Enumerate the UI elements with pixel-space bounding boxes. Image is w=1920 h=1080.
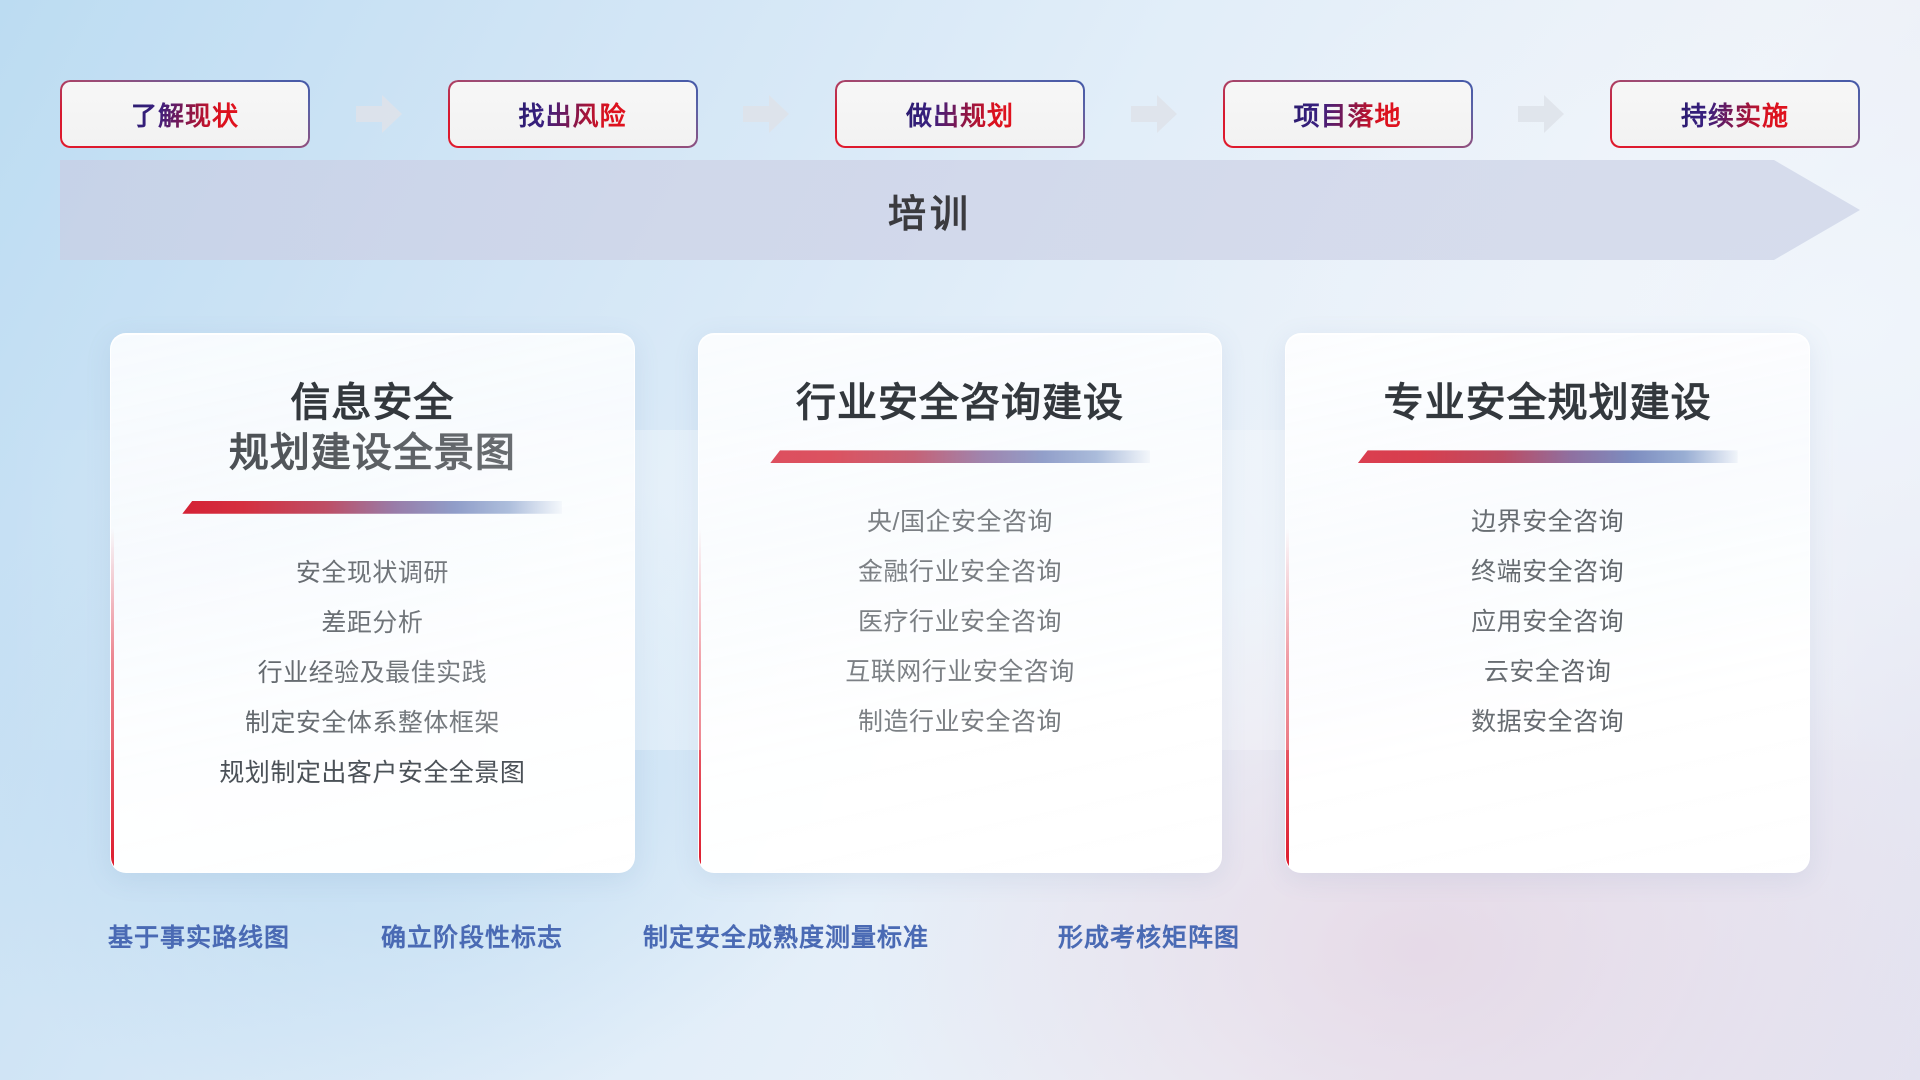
- list-item: 终端安全咨询: [1471, 547, 1624, 597]
- capability-card-group: 信息安全 规划建设全景图 安全现状调研 差距分析 行业经验及最佳实践 制定安全体…: [110, 333, 1810, 893]
- footnote-group: 基于事实路线图 确立阶段性标志 制定安全成熟度测量标准 形成考核矩阵图: [0, 918, 1920, 968]
- list-item: 制定安全体系整体框架: [245, 698, 500, 748]
- footnote-label: 制定安全成熟度测量标准: [643, 918, 929, 954]
- footnote-label: 确立阶段性标志: [381, 918, 563, 954]
- list-item: 央/国企安全咨询: [867, 497, 1053, 547]
- list-item: 边界安全咨询: [1471, 497, 1624, 547]
- card-title: 信息安全 规划建设全景图: [229, 378, 516, 479]
- list-item: 安全现状调研: [296, 548, 449, 598]
- list-item: 金融行业安全咨询: [858, 547, 1062, 597]
- capability-card[interactable]: 行业安全咨询建设 央/国企安全咨询 金融行业安全咨询 医疗行业安全咨询 互联网行…: [698, 333, 1223, 873]
- capability-card[interactable]: 专业安全规划建设 边界安全咨询 终端安全咨询 应用安全咨询 云安全咨询 数据安全…: [1285, 333, 1810, 873]
- step-item-3[interactable]: 做出规划: [835, 80, 1085, 148]
- footnote-label: 形成考核矩阵图: [1058, 918, 1240, 954]
- list-item: 制造行业安全咨询: [858, 697, 1062, 747]
- list-item: 规划制定出客户安全全景图: [219, 748, 525, 798]
- card-title: 行业安全咨询建设: [796, 378, 1124, 428]
- list-item: 云安全咨询: [1484, 647, 1612, 697]
- training-banner-label: 培训: [60, 160, 1860, 260]
- card-divider: [1358, 450, 1738, 463]
- list-item: 应用安全咨询: [1471, 597, 1624, 647]
- list-item: 差距分析: [321, 598, 423, 648]
- training-banner: 培训: [60, 160, 1860, 260]
- step-label: 了解现状: [131, 96, 239, 133]
- list-item: 行业经验及最佳实践: [258, 648, 488, 698]
- card-divider: [770, 450, 1150, 463]
- step-label: 持续实施: [1681, 96, 1789, 133]
- list-item: 互联网行业安全咨询: [845, 647, 1075, 697]
- step-label: 项目落地: [1293, 96, 1401, 133]
- step-item-4[interactable]: 项目落地: [1223, 80, 1473, 148]
- list-item: 医疗行业安全咨询: [858, 597, 1062, 647]
- footnote-label: 基于事实路线图: [108, 918, 290, 954]
- list-item: 数据安全咨询: [1471, 697, 1624, 747]
- card-title: 专业安全规划建设: [1384, 378, 1712, 428]
- card-item-list: 央/国企安全咨询 金融行业安全咨询 医疗行业安全咨询 互联网行业安全咨询 制造行…: [699, 497, 1222, 747]
- process-step-flow: 了解现状 找出风险 做出规划 项目落地: [60, 78, 1860, 150]
- step-label: 做出规划: [906, 96, 1014, 133]
- slide-canvas: 了解现状 找出风险 做出规划 项目落地: [0, 0, 1920, 1080]
- card-item-list: 边界安全咨询 终端安全咨询 应用安全咨询 云安全咨询 数据安全咨询: [1286, 497, 1809, 747]
- step-label: 找出风险: [518, 96, 626, 133]
- step-item-2[interactable]: 找出风险: [448, 80, 698, 148]
- step-item-1[interactable]: 了解现状: [60, 80, 310, 148]
- step-item-5[interactable]: 持续实施: [1610, 80, 1860, 148]
- card-item-list: 安全现状调研 差距分析 行业经验及最佳实践 制定安全体系整体框架 规划制定出客户…: [111, 548, 634, 798]
- capability-card[interactable]: 信息安全 规划建设全景图 安全现状调研 差距分析 行业经验及最佳实践 制定安全体…: [110, 333, 635, 873]
- card-divider: [182, 501, 562, 514]
